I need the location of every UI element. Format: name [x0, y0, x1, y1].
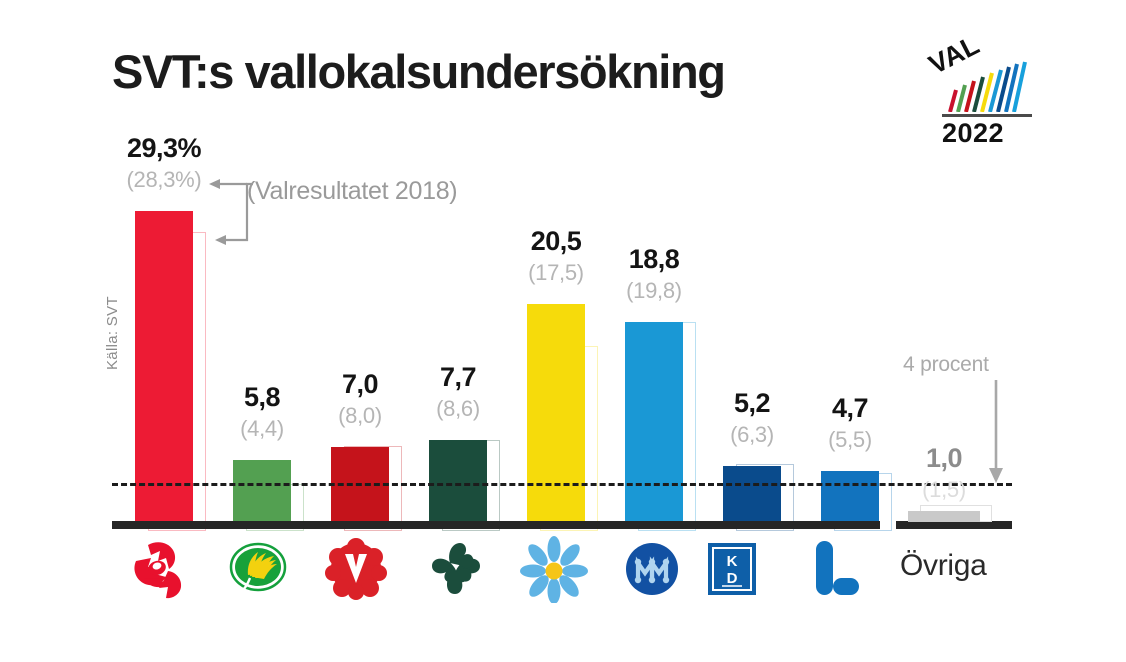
party-logo-c [420, 535, 492, 603]
four-percent-arrow [985, 380, 1007, 484]
four-percent-label: 4 procent [903, 353, 989, 377]
value-label-sd: 20,5 [505, 226, 607, 257]
party-logo-v [320, 535, 392, 603]
ovriga-axis-label: Övriga [900, 549, 1040, 583]
value-label-l: 4,7 [799, 393, 901, 424]
party-logo-l [800, 535, 872, 603]
bar-c [429, 440, 487, 521]
bar-s [135, 211, 193, 521]
previous-value-label-mp: (4,4) [211, 416, 313, 442]
value-label-m: 18,8 [603, 244, 705, 275]
value-label-kd: 5,2 [701, 388, 803, 419]
bar-m [625, 322, 683, 521]
bar-mp [233, 460, 291, 521]
party-logo-sd [518, 535, 590, 603]
ovriga-value-label: 1,0 [898, 443, 990, 474]
value-label-mp: 5,8 [211, 382, 313, 413]
party-logo-mp [222, 535, 294, 603]
value-label-c: 7,7 [407, 362, 509, 393]
previous-value-label-v: (8,0) [309, 403, 411, 429]
value-label-s: 29,3% [113, 133, 215, 164]
x-axis-baseline-other [896, 521, 1012, 529]
bar-kd [723, 466, 781, 521]
x-axis-baseline [112, 521, 880, 529]
previous-result-annotation: (Valresultatet 2018) [247, 177, 457, 206]
four-percent-threshold-line [112, 483, 1012, 486]
previous-value-label-l: (5,5) [799, 427, 901, 453]
ovriga-bar [908, 511, 980, 522]
svg-text:K: K [727, 553, 738, 570]
party-logo-m [616, 535, 688, 603]
party-logo-s [124, 535, 196, 603]
source-label: Källa: SVT [104, 296, 121, 370]
previous-result-annotation-arrow [205, 178, 265, 250]
bar-l [821, 471, 879, 521]
previous-value-label-m: (19,8) [603, 278, 705, 304]
previous-value-label-s: (28,3%) [113, 167, 215, 193]
ovriga-previous-label: (1,5) [898, 477, 990, 503]
bar-sd [527, 304, 585, 521]
previous-value-label-sd: (17,5) [505, 260, 607, 286]
value-label-v: 7,0 [309, 369, 411, 400]
party-logo-row: K D Övriga [0, 535, 1126, 615]
previous-value-label-c: (8,6) [407, 396, 509, 422]
previous-value-label-kd: (6,3) [701, 422, 803, 448]
infographic-root: SVT:s vallokalsundersökning VAL 2022 Käl… [0, 0, 1126, 662]
party-logo-kd: K D [694, 535, 766, 603]
svg-text:D: D [727, 570, 738, 587]
